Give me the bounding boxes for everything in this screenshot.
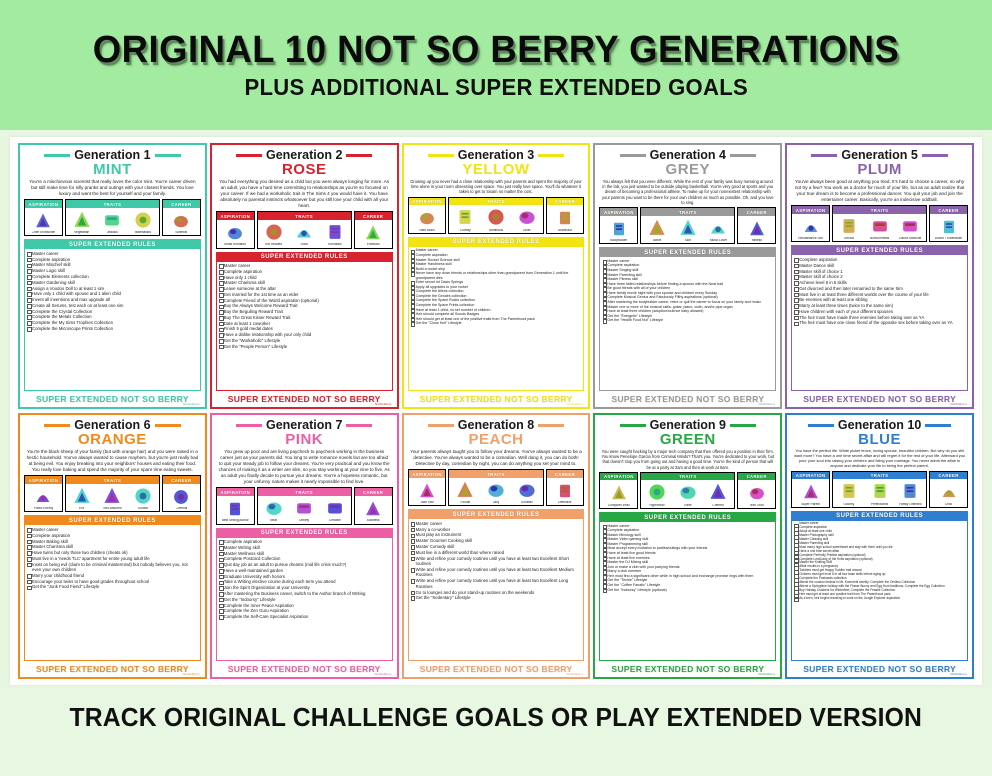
career-panel-body: Scientist	[163, 208, 200, 236]
mischief-icon	[33, 211, 53, 231]
traits-label: Ambitious	[489, 229, 503, 232]
traits-label: Noncommittal	[870, 237, 890, 240]
aspiration-label: Best Selling Author	[222, 519, 249, 522]
title-rule-left	[811, 154, 837, 157]
aspiration-slot: Serial Romantic	[218, 223, 253, 247]
rule-item[interactable]: Master Comedy skill	[411, 544, 582, 550]
aspiration-panel-header: ASPIRATION	[600, 473, 637, 481]
rules-panel: SUPER EXTENDED RULESComplete aspirationM…	[216, 528, 393, 661]
cheerful-icon	[707, 481, 729, 503]
generation-card[interactable]: Generation 7PINKYou grew up poor and are…	[210, 413, 399, 679]
rule-item[interactable]: Get the "People Person" Lifestyle	[219, 344, 390, 350]
rule-item[interactable]: Create all Serums, test each on at least…	[27, 303, 198, 309]
generation-title: Generation 9	[650, 419, 726, 432]
doctor-entertainer-icon	[939, 217, 959, 237]
rules-header: SUPER EXTENDED RULES	[25, 516, 200, 525]
generation-title: Generation 7	[266, 419, 342, 432]
career-panel-header: CAREER	[930, 206, 967, 214]
traits-slot: Dance Machine	[895, 215, 925, 241]
generation-card[interactable]: Generation 1MINTYou're a mischievous sci…	[18, 143, 207, 409]
career-panel-header: CAREER	[355, 212, 392, 220]
career-label: Criminal	[176, 507, 188, 510]
rule-item[interactable]: Date at least 1 coworker	[219, 321, 390, 327]
career-panel-header: CAREER	[738, 208, 775, 216]
aspiration-label: Bodybuilder	[610, 239, 627, 242]
traits-slot: Creative	[320, 497, 350, 523]
rule-item[interactable]: Complete the My Sims Trophies Collection	[27, 320, 198, 326]
career-slot: Politician	[356, 223, 391, 247]
traits-slot: Hypertonic	[642, 481, 672, 507]
evil-icon	[71, 485, 93, 507]
career-panel: CAREERBusiness	[354, 487, 393, 524]
traits-label: Slob	[685, 239, 691, 242]
rule-item[interactable]: Complete aspiration	[219, 269, 390, 275]
lazy-icon	[485, 479, 507, 501]
career-label: Politician	[367, 243, 380, 246]
rule-item[interactable]: Join the Spirit Organization at your Uni…	[219, 585, 390, 591]
poster-page: ORIGINAL 10 NOT SO BERRY GENERATIONS PLU…	[0, 0, 992, 776]
generation-title: Generation 2	[266, 149, 342, 162]
traits-slot: Evil	[67, 485, 97, 511]
rule-item[interactable]: Buy the Beguiling Reward Trait	[219, 309, 390, 315]
aspiration-panel: ASPIRATIONSuper Parent	[791, 471, 830, 508]
loner-icon	[516, 206, 538, 228]
generation-card[interactable]: Generation 9GREENYou were caught hacking…	[593, 413, 782, 679]
attributes-strip: ASPIRATIONSerial RomanticTRAITSHot Heade…	[216, 211, 393, 248]
career-panel-header: CAREER	[163, 200, 200, 208]
aspiration-panel-body: Computer Whiz	[600, 480, 637, 508]
aspiration-panel-body: Serial Romantic	[217, 220, 254, 248]
traits-slot: Loner	[512, 206, 542, 232]
aspiration-slot: Best Selling Author	[218, 499, 253, 523]
generation-description: You always felt that you were different.…	[599, 179, 776, 205]
career-label: Business	[367, 519, 380, 522]
footer-banner: TRACK ORIGINAL CHALLENGE GOALS OR PLAY E…	[0, 690, 992, 776]
rules-header: SUPER EXTENDED RULES	[409, 510, 584, 519]
rule-item[interactable]: Graduate University with honors	[219, 574, 390, 580]
rule-item[interactable]: Master career	[219, 263, 390, 269]
rule-item[interactable]: Get the "Workaholic" Lifestyle	[219, 338, 390, 344]
generation-card[interactable]: Generation 6ORANGEYou're the black sheep…	[18, 413, 207, 679]
astronaut-icon	[555, 208, 575, 228]
career-panel-header: CAREER	[547, 198, 584, 206]
traits-label: Unflirty	[299, 519, 309, 522]
aspiration-panel-header: ASPIRATION	[217, 212, 254, 220]
aspiration-panel-body: Renaissance Sim	[792, 214, 829, 242]
rule-item[interactable]: Master career	[27, 527, 198, 533]
dance-machine-icon	[899, 215, 921, 237]
rules-panel: SUPER EXTENDED RULESMaster careerComplet…	[408, 237, 585, 391]
rule-item[interactable]: Master career	[411, 521, 582, 527]
rule-item[interactable]: Complete the Inner Peace Aspiration	[219, 603, 390, 609]
traits-panel: TRAITSGloomyPerfectionistFamily Oriented	[832, 471, 927, 508]
traits-panel-body: GloomyPerfectionistFamily Oriented	[833, 479, 926, 507]
rule-item[interactable]: Master Writing skill	[219, 545, 390, 551]
generation-description: You're a mischievous scientist that real…	[24, 179, 201, 197]
rules-header: SUPER EXTENDED RULES	[792, 246, 967, 255]
rule-item[interactable]: Get the "Sedentary" Lifestyle	[411, 595, 582, 601]
generation-card[interactable]: Generation 3YELLOWGrowing up you never h…	[402, 143, 591, 409]
attributes-strip: ASPIRATIONNerd BrainTRAITSClumsyAmbitiou…	[408, 197, 585, 234]
traits-slot: Clumsy	[450, 206, 480, 232]
rule-item[interactable]: Marry a co-worker	[411, 527, 582, 533]
traits-label: Lazy	[493, 501, 500, 504]
traits-slot: Genius	[834, 215, 864, 241]
traits-label: Materialistic	[135, 231, 152, 234]
title-rule-right	[155, 154, 181, 157]
rule-item[interactable]: Write and refine your comedy routines un…	[411, 567, 582, 578]
aspiration-panel-header: ASPIRATION	[792, 472, 829, 480]
career-slot: Criminal	[164, 487, 199, 511]
romantic-icon	[324, 221, 346, 243]
traits-label: Hot Headed	[265, 243, 282, 246]
card-footer-text: SUPER EXTENDED NOT SO BERRY	[599, 661, 776, 675]
rule-item[interactable]: Must live in a 'needs TLC' apartment for…	[27, 556, 198, 562]
generation-color-name: GREEN	[599, 432, 776, 448]
traits-panel: TRAITSHot HeadedSnobRomantic	[257, 211, 352, 248]
unflirty-icon	[293, 497, 315, 519]
title-rule-right	[346, 154, 372, 157]
career-panel-body: Critic	[930, 479, 967, 507]
traits-panel-body: VegetarianJealousMaterialistic	[66, 208, 159, 236]
traits-panel-header: TRAITS	[258, 212, 351, 220]
rule-item[interactable]: Complete Postcard Collection	[219, 556, 390, 562]
rules-list: Master careerComplete aspirationMaster B…	[25, 525, 200, 660]
rule-item[interactable]: Master Charisma skill	[27, 544, 198, 550]
traits-label: Perfectionist	[871, 503, 889, 506]
career-slot: Scientist	[164, 211, 199, 235]
rule-item[interactable]: Achieve level 8 in 6 skills	[794, 280, 965, 286]
rule-item[interactable]: Complete Elements collection	[27, 274, 198, 280]
super-parent-icon	[801, 482, 821, 502]
career-panel-body: Criminal	[163, 484, 200, 512]
rule-item[interactable]: Master Baking skill	[27, 539, 198, 545]
traits-label: Self-Assured	[103, 507, 121, 510]
aspiration-slot: Chief of Mischief	[26, 211, 61, 235]
rule-item[interactable]: Master Gourmet Cooking skill	[411, 538, 582, 544]
aspiration-panel: ASPIRATIONBodybuilder	[599, 207, 638, 244]
rule-item[interactable]: Must play an instrument	[411, 532, 582, 538]
clumsy-icon	[454, 206, 476, 228]
rule-item[interactable]: Write and refine your comedy routines un…	[411, 578, 582, 589]
generation-title: Generation 3	[458, 149, 534, 162]
rule-item[interactable]: Master skill of choice 1	[794, 269, 965, 275]
career-label: Detective	[558, 501, 571, 504]
generation-description: You grew up poor and are living paycheck…	[216, 449, 393, 485]
rule-item[interactable]: Be enemies with at least one sibling	[794, 297, 965, 303]
rules-list: Master careerComplete aspirationAdopt at…	[792, 521, 967, 660]
aspiration-label: Computer Whiz	[608, 504, 630, 507]
traits-label: Romantic	[328, 243, 341, 246]
aspiration-label: Joke Star	[420, 501, 433, 504]
rule-item[interactable]: Never have any close friends or relation…	[411, 271, 582, 280]
active-icon	[646, 217, 668, 239]
rules-list: Complete aspirationMaster Dance skillMas…	[792, 255, 967, 390]
aspiration-slot: Public Enemy	[26, 487, 61, 511]
rule-item[interactable]: Complete aspiration	[27, 533, 198, 539]
bodybuilder-icon	[609, 219, 629, 239]
card-title-row: Generation 1	[24, 149, 201, 162]
creative-icon	[324, 497, 346, 519]
rule-item[interactable]: Take a Writing elective course during ea…	[219, 579, 390, 585]
career-panel: CAREERCriminal	[162, 475, 201, 512]
card-footer-text: SUPER EXTENDED NOT SO BERRY	[599, 391, 776, 405]
rule-item[interactable]: Write and refine your comedy routines un…	[411, 556, 582, 567]
rules-header: SUPER EXTENDED RULES	[792, 512, 967, 521]
card-title-row: Generation 3	[408, 149, 585, 162]
generation-description: Your parents always taught you to follow…	[408, 449, 585, 467]
title-rule-left	[428, 154, 454, 157]
career-panel: CAREERTech Guru	[737, 472, 776, 509]
career-panel-header: CAREER	[547, 470, 584, 478]
aspiration-panel-body: Public Enemy	[25, 484, 62, 512]
attributes-strip: ASPIRATIONBest Selling AuthorTRAITSNeatU…	[216, 487, 393, 524]
generation-title: Generation 5	[841, 149, 917, 162]
generation-title: Generation 1	[74, 149, 150, 162]
rules-list: Master careerComplete aspirationMaster S…	[600, 257, 775, 390]
career-panel: CAREERPolitician	[354, 211, 393, 248]
rule-item[interactable]: Master career	[27, 251, 198, 257]
rules-list: Master careerComplete aspirationMaster M…	[600, 522, 775, 660]
traits-panel-body: ActiveSlobMusic Lover	[641, 216, 734, 244]
rules-list: Master careerComplete aspirationHave onl…	[217, 262, 392, 390]
rule-item[interactable]: After mastering the Business career, swi…	[219, 591, 390, 597]
materialistic-icon	[132, 209, 154, 231]
rule-item[interactable]: Encourage your twins to have good grades…	[27, 579, 198, 585]
rule-item[interactable]: Master skill of choice 2	[794, 274, 965, 280]
generation-title: Generation 4	[650, 149, 726, 162]
rule-item[interactable]: Have a well-maintained garden	[219, 568, 390, 574]
traits-label: Jealous	[107, 231, 118, 234]
noncommittal-icon	[869, 215, 891, 237]
gloomy-icon	[838, 480, 860, 502]
career-slot: Critic	[931, 482, 966, 506]
traits-panel-body: EvilSelf-AssuredGlutton	[66, 484, 159, 512]
generation-description: You're the black sheep of your family (b…	[24, 449, 201, 473]
generation-title: Generation 6	[74, 419, 150, 432]
generation-description: You've always been good at anything you …	[791, 179, 968, 203]
rule-item[interactable]: Complete the Crystal Collection	[27, 309, 198, 315]
traits-slot: Foodie	[450, 479, 480, 505]
generation-card[interactable]: Generation 4GREYYou always felt that you…	[593, 143, 782, 409]
rule-item[interactable]: Must live in at least three different wo…	[794, 292, 965, 298]
rule-item[interactable]: Master Dance skill	[794, 263, 965, 269]
rule-item[interactable]: Marry at least three times (twice to the…	[794, 303, 965, 309]
rule-item[interactable]: Finish 5 gold medal dates	[219, 326, 390, 332]
aspiration-panel-body: Joke Star	[409, 478, 446, 506]
critic-icon	[939, 482, 959, 502]
rule-item[interactable]: Master Mischief skill	[27, 262, 198, 268]
rule-item[interactable]: Complete aspiration	[794, 257, 965, 263]
generation-card[interactable]: Generation 2ROSEYou had everything you d…	[210, 143, 399, 409]
rules-list: Complete aspirationMaster Writing skillM…	[217, 538, 392, 660]
title-rule-left	[808, 424, 834, 427]
title-rule-left	[44, 154, 70, 157]
generation-card[interactable]: Generation 5PLUMYou've always been good …	[785, 143, 974, 409]
aspiration-panel-body: Nerd Brain	[409, 205, 446, 233]
generation-card[interactable]: Generation 8PEACHYour parents always tau…	[402, 413, 591, 679]
traits-panel-body: ClumsyAmbitiousLoner	[449, 205, 542, 233]
traits-slot: Unflirty	[289, 497, 319, 523]
traits-label: Hypertonic	[649, 504, 664, 507]
rule-item[interactable]: Have a dislike relationship with your on…	[219, 332, 390, 338]
rule-item[interactable]: Get divorced and then later remarried to…	[794, 286, 965, 292]
traits-panel-header: TRAITS	[449, 470, 542, 478]
rule-item[interactable]: Buy the Always Welcome Reward Trait	[219, 303, 390, 309]
rules-list: Master careerMarry a co-workerMust play …	[409, 519, 584, 660]
career-panel-body: Doctor / Entertainer	[930, 214, 967, 242]
card-title-row: Generation 4	[599, 149, 776, 162]
title-rule-left	[620, 424, 646, 427]
rule-item[interactable]: Complete aspiration	[219, 539, 390, 545]
generation-card[interactable]: Generation 10BLUEYou have the perfect li…	[785, 413, 974, 679]
card-credit: NotSoBerry	[759, 402, 776, 406]
career-panel-body: Astronaut	[547, 205, 584, 233]
generation-color-name: ROSE	[216, 162, 393, 178]
rule-item[interactable]: Buy The Great Kisser Reward Trait	[219, 315, 390, 321]
goofball-icon	[516, 479, 538, 501]
rule-item[interactable]: Complete aspiration	[27, 257, 198, 263]
serial-romantic-icon	[225, 223, 245, 243]
rule-item[interactable]: Must live in a different world than wher…	[411, 550, 582, 556]
rule-item[interactable]: Have only 1 child with spouse and 1 alie…	[27, 291, 198, 297]
generation-color-name: PEACH	[408, 432, 585, 448]
traits-label: Gloomy	[843, 503, 854, 506]
rule-item[interactable]: Master Logic skill	[27, 268, 198, 274]
card-footer-text: SUPER EXTENDED NOT SO BERRY	[791, 391, 968, 405]
aspiration-slot: Super Parent	[793, 482, 828, 506]
traits-slot: Slob	[673, 217, 703, 243]
rule-item[interactable]: Get the "Indoorsy" Lifestyle	[219, 597, 390, 603]
card-credit: NotSoBerry	[375, 672, 392, 676]
rule-item[interactable]: As a teen, heir begins traveling to work…	[794, 597, 965, 601]
footer-text: TRACK ORIGINAL CHALLENGE GOALS OR PLAY E…	[70, 702, 923, 733]
traits-panel-header: TRAITS	[641, 473, 734, 481]
aspiration-panel: ASPIRATIONJoke Star	[408, 469, 447, 506]
traits-slot: Goofball	[512, 479, 542, 505]
rules-header: SUPER EXTENDED RULES	[25, 240, 200, 249]
rule-item[interactable]: Go to lounges and do your stand-up routi…	[411, 590, 582, 596]
snob-icon	[293, 221, 315, 243]
rule-item[interactable]: Have children with each of your differen…	[794, 309, 965, 315]
neat-icon	[263, 497, 285, 519]
traits-panel-header: TRAITS	[449, 198, 542, 206]
aspiration-panel-header: ASPIRATION	[25, 476, 62, 484]
card-credit: NotSoBerry	[950, 402, 967, 406]
traits-label: Neat	[270, 519, 277, 522]
rule-item[interactable]: Marry your childhood friend	[27, 573, 198, 579]
career-panel-header: CAREER	[930, 472, 967, 480]
title-rule-right	[730, 154, 756, 157]
traits-slot: Jealous	[98, 209, 128, 235]
traits-panel: TRAITSVegetarianJealousMaterialistic	[65, 199, 160, 236]
rule-item[interactable]: The heir must have made three enemies be…	[794, 315, 965, 321]
rule-item[interactable]: Get the "Indoorsy" Lifestyle (optional)	[602, 588, 773, 592]
attributes-strip: ASPIRATIONSuper ParentTRAITSGloomyPerfec…	[791, 471, 968, 508]
aspiration-slot: Renaissance Sim	[793, 217, 828, 241]
title-rule-right	[925, 424, 951, 427]
card-title-row: Generation 10	[791, 419, 968, 432]
rule-item[interactable]: Invent all inventions and max upgrade al…	[27, 297, 198, 303]
rule-item[interactable]: Master Charisma skill	[219, 280, 390, 286]
aspiration-label: Renaissance Sim	[798, 237, 823, 240]
traits-label: Geek	[684, 504, 692, 507]
traits-slot: Vegetarian	[67, 209, 97, 235]
jealous-icon	[101, 209, 123, 231]
aspiration-slot: Bodybuilder	[601, 219, 636, 243]
traits-slot: Perfectionist	[865, 480, 895, 506]
generations-grid: Generation 1MINTYou're a mischievous sci…	[18, 143, 974, 679]
card-footer-text: SUPER EXTENDED NOT SO BERRY	[24, 391, 201, 405]
rule-item[interactable]: Have only 1 child	[219, 275, 390, 281]
traits-panel: TRAITSFoodieLazyGoofball	[448, 469, 543, 506]
card-footer-text: SUPER EXTENDED NOT SO BERRY	[408, 391, 585, 405]
title-rule-left	[428, 424, 454, 427]
rule-item[interactable]: Insist on being evil (claim to be crimin…	[27, 562, 198, 573]
career-slot: Doctor / Entertainer	[931, 217, 966, 241]
rule-item[interactable]: Complete the Zen Guru Aspiration	[219, 608, 390, 614]
rule-item[interactable]: Leave someone at the altar	[219, 286, 390, 292]
rule-item[interactable]: Have twins but only those two children (…	[27, 550, 198, 556]
rule-item[interactable]: Complete Friend of the World aspiration …	[219, 298, 390, 304]
traits-label: Glutton	[138, 507, 148, 510]
rule-item[interactable]: Assign a Voodoo Doll to at least 1 sim	[27, 286, 198, 292]
traits-slot: Materialistic	[128, 209, 158, 235]
generation-color-name: YELLOW	[408, 162, 585, 178]
career-panel-body: Politician	[355, 220, 392, 248]
rule-item[interactable]: Quit day job as an adult to pursue dream…	[219, 562, 390, 568]
career-panel-body: Athletic	[738, 216, 775, 244]
rule-item[interactable]: Get the "Health Food Nut" Lifestyle	[602, 318, 773, 322]
traits-slot: Self-Assured	[98, 485, 128, 511]
attributes-strip: ASPIRATIONComputer WhizTRAITSHypertonicG…	[599, 472, 776, 509]
rule-item[interactable]: Complete the Microscope Prints Collectio…	[27, 326, 198, 332]
card-title-row: Generation 2	[216, 149, 393, 162]
traits-panel-header: TRAITS	[66, 476, 159, 484]
traits-slot: Ambitious	[481, 206, 511, 232]
generation-description: You had everything you desired as a chil…	[216, 179, 393, 209]
traits-label: Foodie	[460, 501, 470, 504]
attributes-strip: ASPIRATIONJoke StarTRAITSFoodieLazyGoofb…	[408, 469, 585, 506]
rule-item[interactable]: Complete the Self-Care Specialist Aspira…	[219, 614, 390, 620]
rules-panel: SUPER EXTENDED RULESMaster careerMarry a…	[408, 509, 585, 661]
generation-color-name: GREY	[599, 162, 776, 178]
rule-item[interactable]: Master Gardening skill	[27, 280, 198, 286]
rule-item[interactable]: Get the "Close Knit" Lifestyle	[411, 321, 582, 325]
card-footer-text: SUPER EXTENDED NOT SO BERRY	[791, 661, 968, 675]
rule-item[interactable]: Get the "Junk Food Fiend" Lifestyle	[27, 584, 198, 590]
music-lover-icon	[707, 217, 729, 239]
rule-item[interactable]: Get married for the 1st time as an elder	[219, 292, 390, 298]
traits-panel-body: FoodieLazyGoofball	[449, 478, 542, 506]
traits-slot: Cheerful	[704, 481, 734, 507]
rule-item[interactable]: The heir must have one close friend of t…	[794, 320, 965, 326]
card-footer-text: SUPER EXTENDED NOT SO BERRY	[216, 391, 393, 405]
ambitious-icon	[485, 206, 507, 228]
traits-panel: TRAITSGeniusNoncommittalDance Machine	[832, 205, 927, 242]
aspiration-panel: ASPIRATIONComputer Whiz	[599, 472, 638, 509]
rule-item[interactable]: Complete the Metals Collection	[27, 314, 198, 320]
aspiration-label: Serial Romantic	[224, 243, 247, 246]
rules-panel: SUPER EXTENDED RULESMaster careerComplet…	[599, 512, 776, 661]
rule-item[interactable]: Master Wellness skill	[219, 551, 390, 557]
traits-panel: TRAITSNeatUnflirtyCreative	[257, 487, 352, 524]
career-panel: CAREERAthletic	[737, 207, 776, 244]
aspiration-panel-header: ASPIRATION	[792, 206, 829, 214]
career-slot: Detective	[548, 481, 583, 505]
title-rule-right	[346, 424, 372, 427]
self-assured-icon	[101, 485, 123, 507]
